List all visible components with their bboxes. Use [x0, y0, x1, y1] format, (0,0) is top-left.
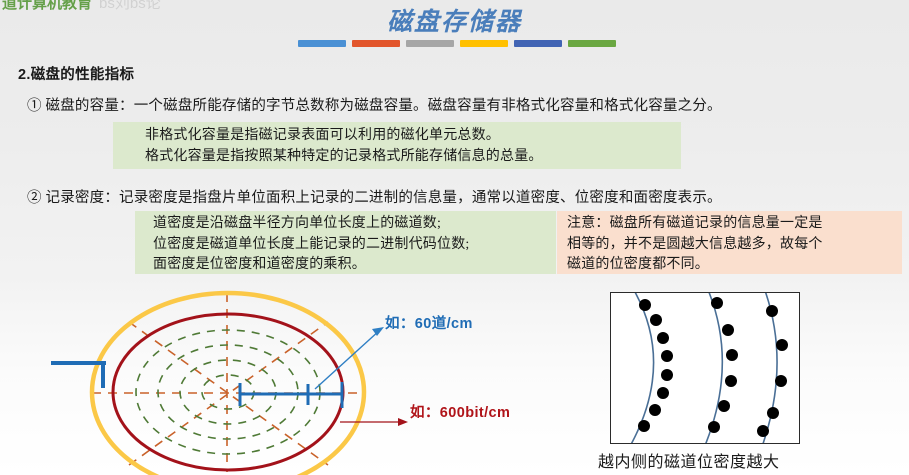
bar-green — [568, 40, 616, 47]
density-line-3: 面密度是位密度和道密度的乘积。 — [153, 255, 556, 276]
track-density-arrow — [315, 327, 384, 389]
bar-yellow — [460, 40, 508, 47]
inner-track-arc — [625, 293, 673, 443]
track-density-label: 如：60道/cm — [385, 312, 473, 333]
definition-box-capacity: 非格式化容量是指磁记录表面可以利用的磁化单元总数。 格式化容量是指按照某种特定的… — [113, 122, 681, 169]
bar-navy — [514, 40, 562, 47]
illustration-caption: 越内侧的磁道位密度越大 — [598, 448, 780, 472]
concentric-dashed-tracks — [136, 330, 320, 454]
slide-canvas: 道计算机教育 bs刘bs论 磁盘存储器 2.磁盘的性能指标 ① 磁盘的容量：一个… — [0, 0, 909, 475]
color-bar-strip — [298, 40, 616, 47]
outer-track-dots — [757, 305, 788, 437]
paragraph-item-2: ② 记录密度：记录密度是指盘片单位面积上记录的二进制的信息量，通常以道密度、位密… — [27, 186, 722, 207]
capacity-line-2: 格式化容量是指按照某种特定的记录格式所能存储信息的总量。 — [145, 147, 681, 168]
paragraph-item-1: ① 磁盘的容量：一个磁盘所能存储的字节总数称为磁盘容量。磁盘容量有非格式化容量和… — [27, 94, 722, 115]
definition-box-density: 道密度是沿磁盘半径方向单位长度上的磁道数; 位密度是磁道单位长度上能记录的二进制… — [135, 211, 556, 274]
bit-density-arrow — [340, 418, 408, 426]
disk-platter-diagram — [40, 282, 600, 475]
page-title: 磁盘存储器 — [0, 2, 909, 38]
capacity-line-1: 非格式化容量是指磁记录表面可以利用的磁化单元总数。 — [145, 126, 681, 147]
density-line-1: 道密度是沿磁盘半径方向单位长度上的磁道数; — [153, 214, 556, 235]
bit-density-measure-bar — [240, 382, 342, 408]
note-box: 注意：磁盘所有磁道记录的信息量一定是 相等的，并不是圆越大信息越多，故每个 磁道… — [557, 211, 902, 274]
outer-platter-ring — [92, 293, 364, 475]
bar-blue — [298, 40, 346, 47]
section-heading: 2.磁盘的性能指标 — [18, 63, 134, 84]
track-density-illustration — [610, 292, 800, 444]
note-line-1: 注意：磁盘所有磁道记录的信息量一定是 — [567, 214, 902, 235]
bar-gray — [406, 40, 454, 47]
bit-density-label: 如：600bit/cm — [410, 401, 510, 422]
note-line-3: 磁道的位密度都不同。 — [567, 255, 902, 276]
middle-track-arc — [701, 293, 738, 443]
density-line-2: 位密度是磁道单位长度上能记录的二进制代码位数; — [153, 235, 556, 256]
outer-track-arc — [757, 293, 788, 443]
bar-orange — [352, 40, 400, 47]
note-line-2: 相等的，并不是圆越大信息越多，故每个 — [567, 235, 902, 256]
inner-track-dots — [638, 299, 673, 432]
